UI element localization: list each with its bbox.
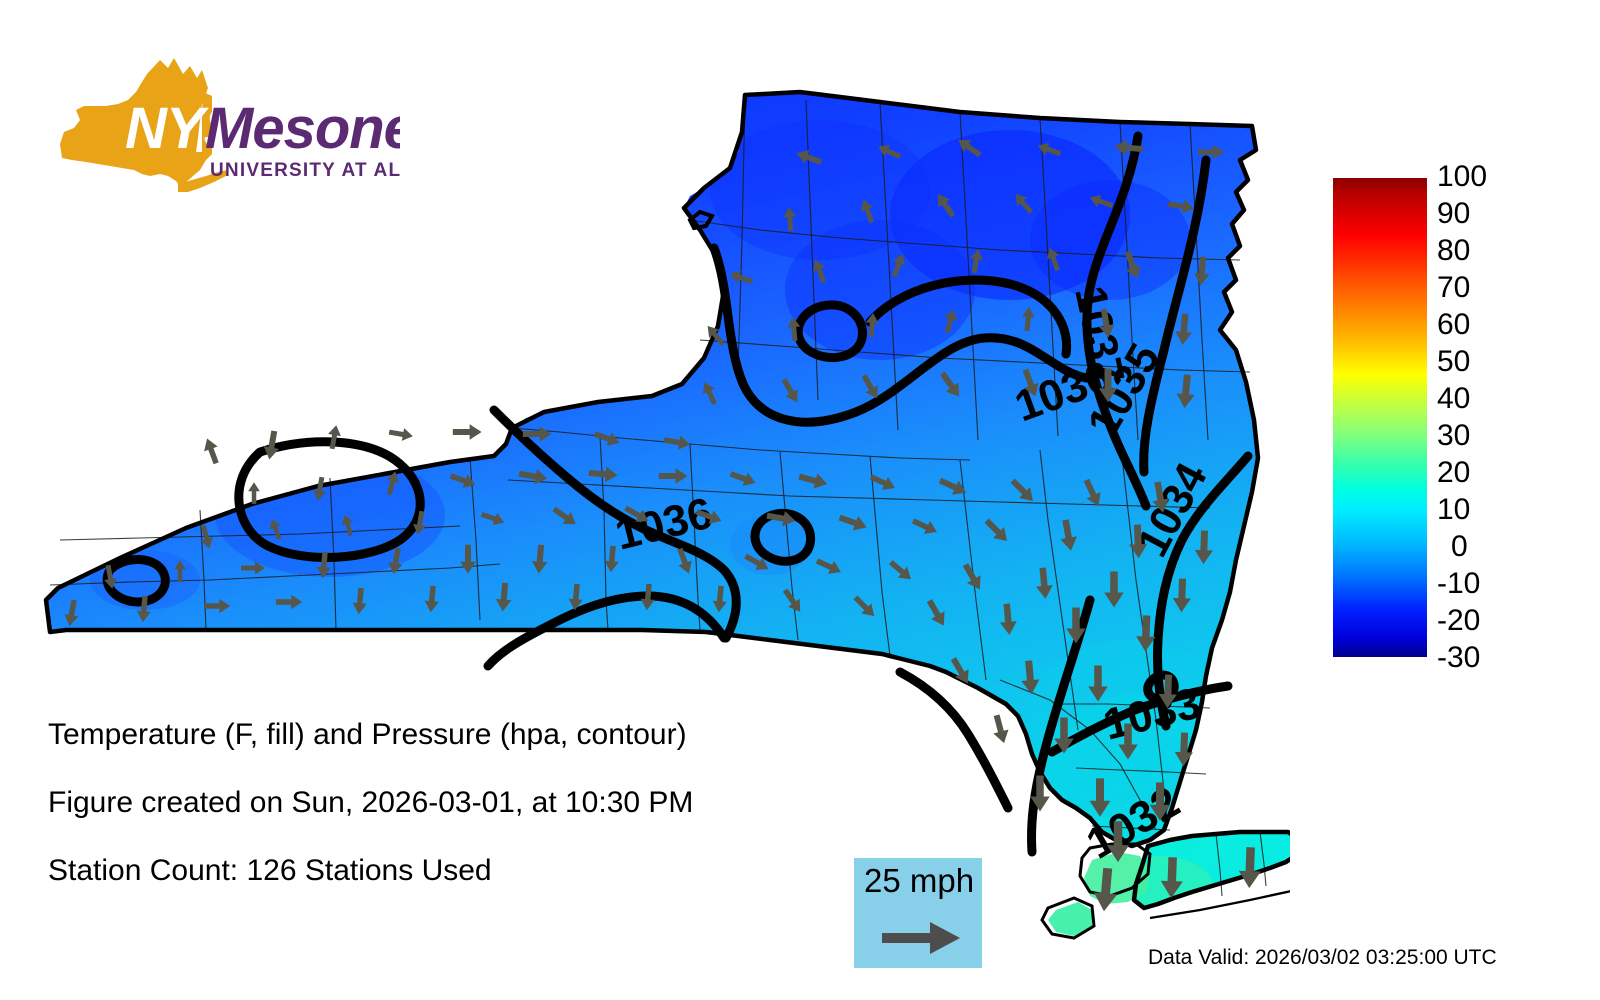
temperature-colorbar: 100 90 80 70 60 50 40 30 20 10 0 -10 -20… [1333,178,1573,658]
colorbar-tick-80: 80 [1437,236,1470,266]
wind-legend-label: 25 mph [864,862,974,900]
colorbar-tick-30: 30 [1437,421,1470,451]
colorbar-tick-50: 50 [1437,347,1470,377]
colorbar-tick-100: 100 [1437,162,1487,192]
station-count-line: Station Count: 126 Stations Used [48,854,693,888]
colorbar-tick-20: 20 [1437,458,1470,488]
colorbar-tick-0: 0 [1451,532,1468,562]
colorbar-tick-70: 70 [1437,273,1470,303]
figure-info-block: Temperature (F, fill) and Pressure (hpa,… [48,718,693,922]
colorbar-tick-10: 10 [1437,495,1470,525]
colorbar-tick-neg10: -10 [1437,569,1480,599]
colorbar-tick-neg30: -30 [1437,643,1480,673]
wind-speed-legend: 25 mph [854,858,982,968]
wind-legend-arrow-icon [882,920,962,956]
data-valid-timestamp: Data Valid: 2026/03/02 03:25:00 UTC [1148,946,1497,970]
weather-map-figure: NYS Mesonet UNIVERSITY AT ALBANY [0,0,1600,1000]
colorbar-tick-90: 90 [1437,199,1470,229]
figure-title-line: Temperature (F, fill) and Pressure (hpa,… [48,718,693,752]
colorbar-tick-neg20: -20 [1437,606,1480,636]
colorbar-gradient [1333,178,1427,657]
figure-created-line: Figure created on Sun, 2026-03-01, at 10… [48,786,693,820]
colorbar-tick-40: 40 [1437,384,1470,414]
colorbar-tick-60: 60 [1437,310,1470,340]
